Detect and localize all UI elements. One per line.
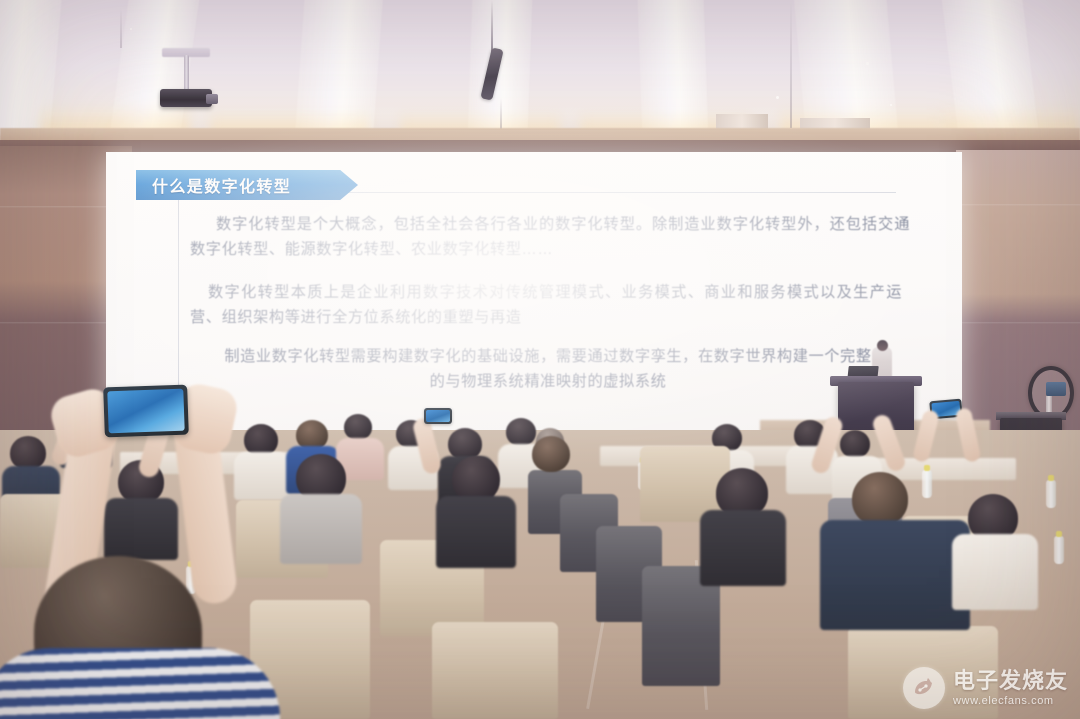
slide-title-banner: 什么是数字化转型 bbox=[136, 170, 358, 200]
attendee-head bbox=[532, 436, 570, 472]
attendee-head bbox=[840, 430, 870, 458]
attendee-head bbox=[506, 418, 536, 446]
foreground-raised-smartphone bbox=[103, 385, 189, 438]
attendee-head bbox=[344, 414, 372, 440]
water-bottle bbox=[922, 470, 932, 498]
attendee-body bbox=[820, 520, 970, 630]
attendee-body bbox=[104, 498, 178, 560]
watermark-brand: 电子发烧友 bbox=[953, 670, 1068, 692]
conference-hall-photo: 什么是数字化转型 数字化转型是个大概念，包括全社会各行各业的数字化转型。除制造业… bbox=[0, 0, 1080, 719]
watermark-url: www.elecfans.com bbox=[953, 696, 1068, 707]
attendee-body bbox=[436, 496, 516, 568]
attendee-body bbox=[280, 494, 362, 564]
ceiling bbox=[0, 0, 1080, 152]
attendee-body bbox=[700, 510, 786, 586]
foreground-phone-screen bbox=[107, 389, 184, 434]
slide-paragraph-1: 数字化转型是个大概念，包括全社会各行各业的数字化转型。除制造业数字化转型外，还包… bbox=[190, 212, 910, 262]
water-bottle bbox=[1046, 480, 1056, 508]
slide-paragraph-3: 制造业数字化转型需要构建数字化的基础设施，需要通过数字孪生，在数字世界构建一个完… bbox=[218, 344, 878, 394]
foreground-striped-shirt bbox=[0, 648, 280, 719]
attendee-body bbox=[234, 452, 290, 500]
elecfans-logo-icon bbox=[903, 667, 945, 709]
watermark: 电子发烧友 www.elecfans.com bbox=[903, 667, 1068, 709]
attendee-head bbox=[10, 436, 46, 470]
slide-divider-top bbox=[336, 192, 896, 193]
ring-light-camera bbox=[1046, 382, 1066, 396]
attendee-body bbox=[952, 534, 1038, 610]
attendee-head bbox=[852, 472, 908, 526]
slide-paragraph-2: 数字化转型本质上是企业利用数字技术对传统管理模式、业务模式、商业和服务模式以及生… bbox=[190, 280, 902, 330]
conference-chair bbox=[432, 622, 558, 719]
raised-smartphone bbox=[424, 408, 452, 424]
slide-title-text: 什么是数字化转型 bbox=[152, 173, 291, 197]
presenter-head bbox=[877, 340, 888, 351]
water-bottle bbox=[1054, 536, 1064, 564]
